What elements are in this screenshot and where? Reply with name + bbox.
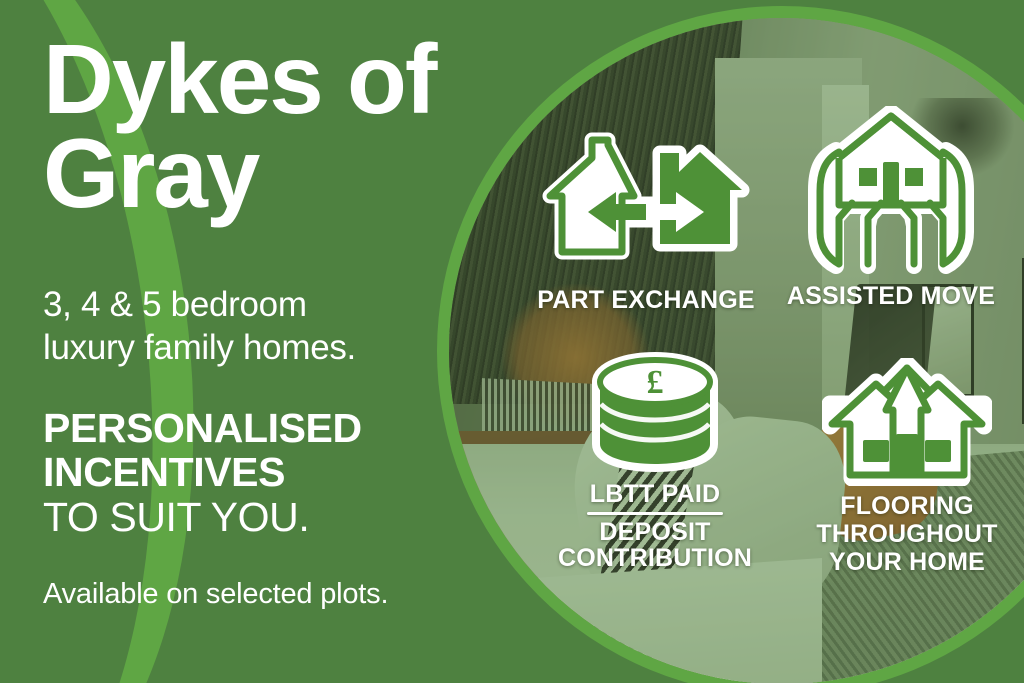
three-houses-up-arrows-icon [800,358,1014,491]
headline-copy-block: Dykes of Gray 3, 4 & 5 bedroom luxury fa… [0,0,470,683]
house-in-hands-icon [782,106,1000,279]
feature-label-flooring: FLOORING [800,493,1014,519]
title-line-2: Gray [43,118,258,228]
feature-lbtt-deposit: £ LBTT PAID DEPOSIT CONTRIBUTION [545,352,765,571]
label-divider [587,512,723,515]
subtitle-line-2: luxury family homes. [43,328,356,367]
feature-label-assisted-move: ASSISTED MOVE [782,283,1000,309]
promo-line-2: INCENTIVES [43,450,463,494]
property-promo-banner: Dykes of Gray 3, 4 & 5 bedroom luxury fa… [0,0,1024,683]
subtitle-line-1: 3, 4 & 5 bedroom [43,285,307,324]
subtitle: 3, 4 & 5 bedroom luxury family homes. [43,284,443,369]
promo-line-3: TO SUIT YOU. [43,495,463,539]
two-houses-exchange-arrows-icon [514,126,778,281]
stacked-coins-pound-icon: £ [545,352,765,481]
feature-part-exchange: PART EXCHANGE [514,126,778,313]
page-title: Dykes of Gray [43,32,473,220]
feature-assisted-move: ASSISTED MOVE [782,106,1000,309]
feature-flooring: FLOORING THROUGHOUT YOUR HOME [800,358,1014,575]
pound-symbol: £ [647,364,664,401]
promo-line-1: PERSONALISED [43,406,463,450]
feature-label-your-home: YOUR HOME [800,549,1014,575]
promo-headline: PERSONALISED INCENTIVES TO SUIT YOU. [43,406,463,539]
footnote-text: Available on selected plots. [43,578,473,611]
feature-label-deposit: DEPOSIT [545,519,765,545]
feature-label-throughout: THROUGHOUT [800,521,1014,547]
feature-label-part-exchange: PART EXCHANGE [514,287,778,313]
feature-label-contribution: CONTRIBUTION [545,545,765,571]
feature-label-lbtt-paid: LBTT PAID [545,481,765,507]
